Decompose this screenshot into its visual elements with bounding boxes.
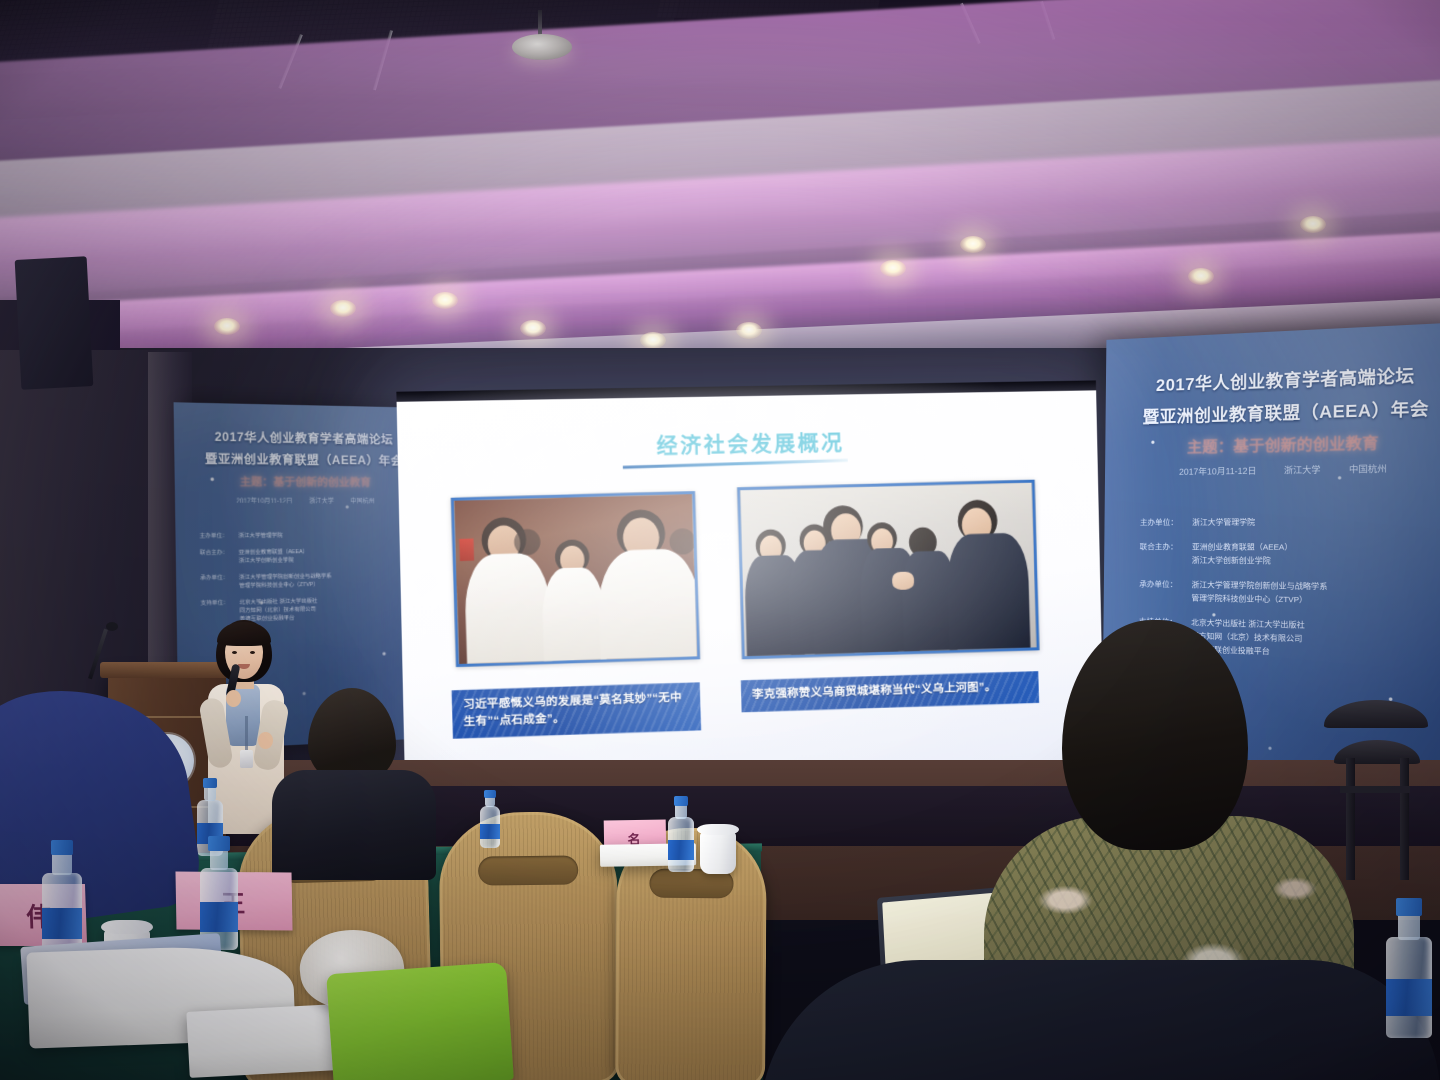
bottle-label <box>668 840 694 860</box>
downlight-icon <box>736 322 762 339</box>
green-tote-bag <box>326 962 514 1080</box>
notepad <box>186 1004 339 1078</box>
banner-org-row: 主办单位： 浙江大学管理学院 <box>200 531 432 539</box>
banner-org-row: 主办单位： 浙江大学管理学院 <box>1140 515 1440 527</box>
pendant-light-icon <box>512 34 572 60</box>
banner-org-row: 承办单位： 浙江大学管理学院创新创业与战略学系 管理学院科技创业中心（ZTVP） <box>1139 578 1440 608</box>
banner-org-label: 联合主办： <box>1140 541 1192 552</box>
teacup-lid <box>697 824 738 835</box>
banner-org-value: 浙江大学管理学院创新创业与战略学系 <box>1192 579 1328 592</box>
speaker-fringe <box>217 622 271 646</box>
banner-university: 浙江大学 <box>1284 463 1321 476</box>
downlight-icon <box>520 320 546 337</box>
slide-title-underline <box>623 459 848 469</box>
water-bottle <box>668 796 694 872</box>
downlight-icon <box>432 292 458 309</box>
banner-org-value: 浙江大学管理学院创新创业与战略学系 <box>239 572 332 581</box>
water-bottle <box>480 790 500 848</box>
bottle-cap <box>1396 898 1422 916</box>
banner-title-line2: 暨亚洲创业教育联盟（AEEA）年会 <box>1105 393 1440 429</box>
banner-meta: 2017年10月11-12日 浙江大学 中国杭州 <box>1105 461 1440 479</box>
speaker-lanyard <box>245 716 248 752</box>
banner-organizations: 主办单位： 浙江大学管理学院 联合主办： 亚洲创业教育联盟（AEEA） 浙江大学… <box>200 531 433 624</box>
slide-caption-left: 习近平感慨义乌的发展是“莫名其妙”“无中生有”“点石成金”。 <box>452 682 702 739</box>
attendee-head <box>1062 620 1248 850</box>
speaker-name-badge <box>240 750 253 768</box>
banner-org-value: 浙江大学管理学院 <box>238 532 282 540</box>
bottle-cap <box>51 840 73 855</box>
water-bottle <box>1386 898 1432 1038</box>
banner-org-row: 联合主办： 亚洲创业教育联盟（AEEA） 浙江大学创新创业学院 <box>200 547 432 565</box>
speaker-eye <box>232 651 237 654</box>
microphone-head-icon <box>106 622 118 631</box>
bottle-label <box>1386 979 1432 1015</box>
bottle-cap <box>674 796 689 806</box>
bottle-label <box>42 908 82 939</box>
banner-org-label: 承办单位： <box>1139 578 1191 590</box>
attendee-torso <box>272 770 436 880</box>
banner-title-line2: 暨亚洲创业教育联盟（AEEA）年会 <box>174 450 430 469</box>
banner-org-value: 管理学院科技创业中心（ZTVP） <box>239 581 332 590</box>
conference-hall-photo: 2017华人创业教育学者高端论坛 暨亚洲创业教育联盟（AEEA）年会 主题：基于… <box>0 0 1440 1080</box>
banner-org-value: 浙江大学管理学院 <box>1192 516 1255 528</box>
slide-title: 经济社会发展概况 <box>397 422 1097 464</box>
speaker-eye <box>250 651 255 654</box>
banner-org-value: 浙江大学创新创业学院 <box>239 556 308 564</box>
banner-org-label: 联合主办： <box>200 549 239 557</box>
downlight-icon <box>1300 216 1326 233</box>
bottle-cap <box>208 836 229 851</box>
banner-org-label: 主办单位： <box>1140 517 1192 528</box>
chair-handle <box>478 855 578 886</box>
banner-dates: 2017年10月11-12日 <box>1179 464 1257 478</box>
downlight-icon <box>1188 268 1214 285</box>
banner-org-value: 管理学院科技创业中心（ZTVP） <box>1191 592 1327 606</box>
slide-photo-left <box>451 491 700 667</box>
water-bottle <box>42 840 82 958</box>
banner-title-line1: 2017华人创业教育学者高端论坛 <box>1106 359 1440 398</box>
banner-org-value: 亚洲创业教育联盟（AEEA） <box>1192 541 1293 553</box>
downlight-icon <box>640 332 666 349</box>
banner-org-value: 浙江大学创新创业学院 <box>1192 554 1293 566</box>
banner-city: 中国杭州 <box>350 496 375 505</box>
banner-city: 中国杭州 <box>1349 462 1387 475</box>
attendee-in-suit <box>268 688 440 868</box>
ceiling-speaker-icon <box>15 256 94 390</box>
banner-dates: 2017年10月11-12日 <box>236 495 292 504</box>
cup-rim <box>101 920 153 935</box>
bottle-cap <box>203 778 218 788</box>
downlight-icon <box>330 300 356 317</box>
banner-org-value: 亚洲创业教育联盟（AEEA） <box>239 548 308 556</box>
banner-meta: 2017年10月11-12日 浙江大学 中国杭州 <box>175 495 431 505</box>
photo-content <box>454 494 697 664</box>
downlight-icon <box>960 236 986 253</box>
lidded-teacup <box>700 832 736 874</box>
bottle-label <box>480 824 500 839</box>
banner-org-label: 主办单位： <box>200 532 239 540</box>
banner-university: 浙江大学 <box>309 496 334 505</box>
banner-org-row: 联合主办： 亚洲创业教育联盟（AEEA） 浙江大学创新创业学院 <box>1139 541 1440 568</box>
attendee-dark-foreground <box>760 960 1440 1080</box>
banner-org-label: 支持单位： <box>200 599 239 607</box>
banner-theme-line: 主题：基于创新的创业教育 <box>1105 429 1440 459</box>
downlight-icon <box>880 260 906 277</box>
speaker-hand-left <box>226 690 241 707</box>
photo-softness <box>454 494 697 664</box>
bottle-cap <box>484 790 495 798</box>
banner-title-line1: 2017华人创业教育学者高端论坛 <box>174 428 430 448</box>
banner-org-row: 承办单位： 浙江大学管理学院创新创业与战略学系 管理学院科技创业中心（ZTVP） <box>200 571 432 590</box>
pagoda-post <box>1400 758 1409 880</box>
bottle-label <box>200 902 238 932</box>
banner-theme-line: 主题：基于创新的创业教育 <box>175 473 431 490</box>
banner-org-label: 承办单位： <box>200 574 239 582</box>
water-bottle <box>200 836 238 950</box>
downlight-icon <box>214 318 240 335</box>
